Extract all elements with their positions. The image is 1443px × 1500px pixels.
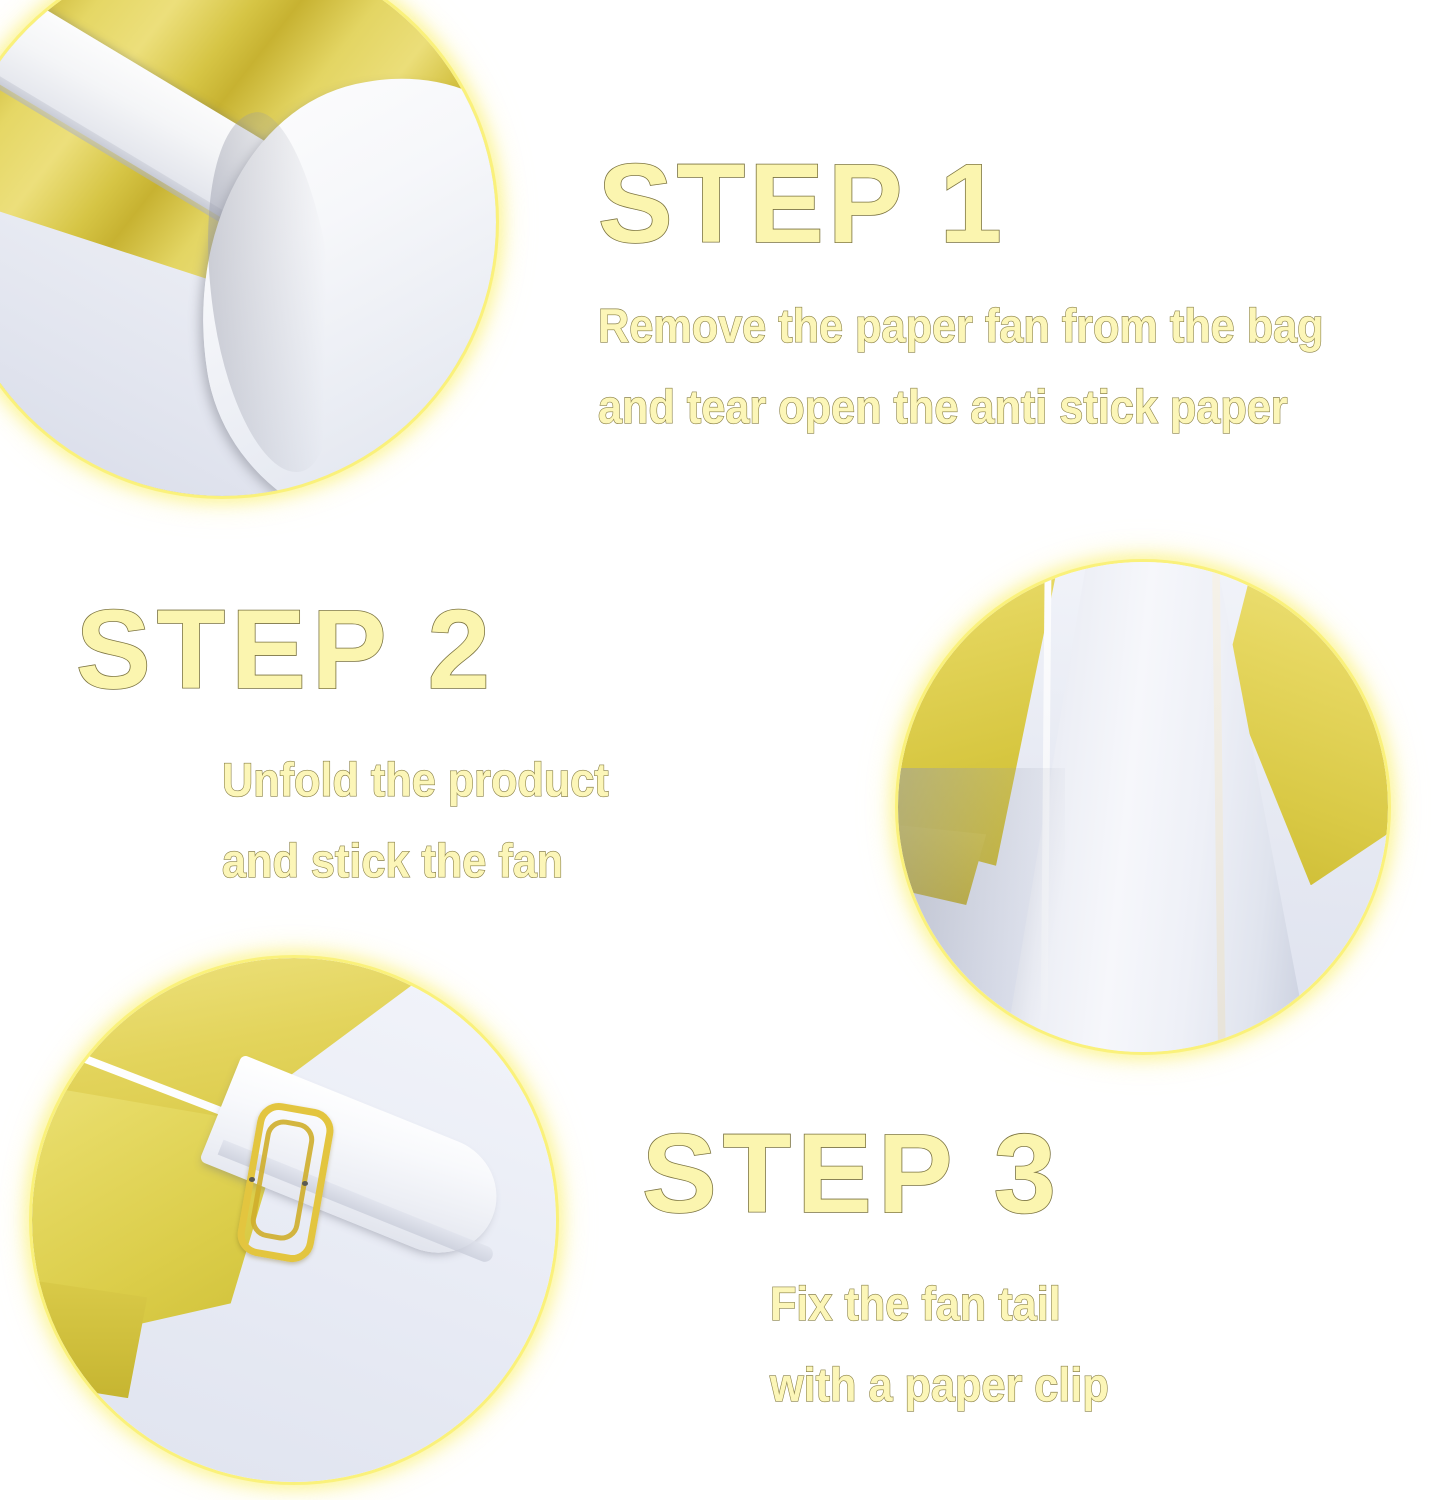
step-1-photo-inner bbox=[0, 0, 496, 496]
step-3-body: Fix the fan tail with a paper clip bbox=[770, 1264, 1138, 1426]
step-3-line-1: Fix the fan tail bbox=[770, 1264, 1109, 1345]
cone-shadow bbox=[898, 768, 1065, 1052]
step-3-photo-inner bbox=[32, 958, 556, 1482]
step-1-line-1: Remove the paper fan from the bag bbox=[598, 286, 1324, 367]
step-1-body: Remove the paper fan from the bag and te… bbox=[598, 286, 1387, 448]
step-2-heading: STEP 2 bbox=[76, 594, 642, 706]
step-1-heading: STEP 1 bbox=[598, 148, 1387, 260]
step-2-body: Unfold the product and stick the fan bbox=[222, 740, 642, 902]
step-1-line-2: and tear open the anti stick paper bbox=[598, 367, 1324, 448]
step-1-photo bbox=[0, 0, 496, 496]
instruction-graphic: STEP 1 Remove the paper fan from the bag… bbox=[0, 0, 1443, 1500]
step-2-photo-inner bbox=[898, 562, 1388, 1052]
step-2-line-2: and stick the fan bbox=[222, 821, 609, 902]
step-2-line-1: Unfold the product bbox=[222, 740, 609, 821]
step-3-text-block: STEP 3 Fix the fan tail with a paper cli… bbox=[642, 1118, 1138, 1426]
step-3-line-2: with a paper clip bbox=[770, 1345, 1109, 1426]
step-2-photo bbox=[898, 562, 1388, 1052]
step-3-photo bbox=[32, 958, 556, 1482]
step-1-text-block: STEP 1 Remove the paper fan from the bag… bbox=[598, 148, 1387, 448]
step-3-heading: STEP 3 bbox=[642, 1118, 1138, 1230]
step-2-text-block: STEP 2 Unfold the product and stick the … bbox=[76, 594, 642, 902]
